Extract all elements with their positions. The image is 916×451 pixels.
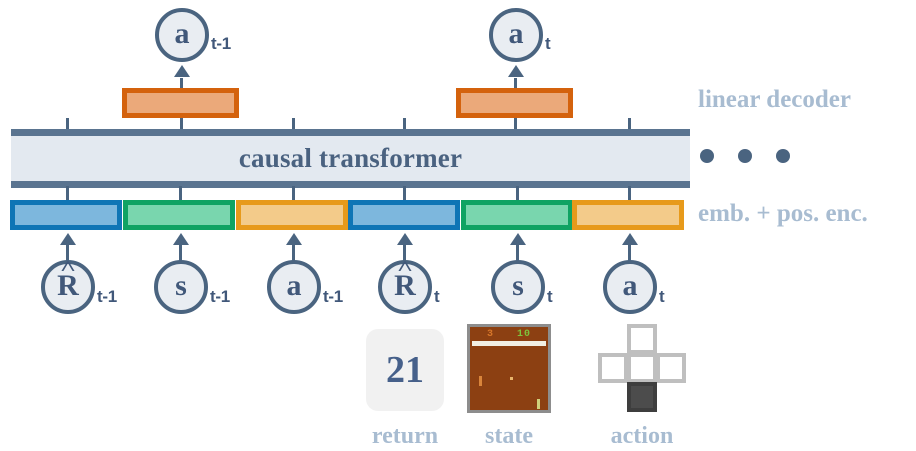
embedding-box-return-t-minus-1 bbox=[10, 200, 122, 230]
token-to-embedding-arrow-6 bbox=[622, 233, 638, 245]
input-token-subscript-5: t bbox=[547, 287, 552, 307]
pong-ball bbox=[510, 377, 513, 380]
return-caption: return bbox=[366, 423, 444, 450]
pong-paddle-right bbox=[537, 399, 540, 409]
token-glyph: s bbox=[175, 271, 187, 301]
decision-transformer-diagram: a t-1 a t causal transformer bbox=[0, 0, 916, 451]
embedding-box-return-t bbox=[348, 200, 460, 230]
pong-scoreboard: 3 10 bbox=[470, 329, 548, 340]
pong-divider-bar bbox=[472, 341, 546, 346]
transformer-bottom-tick-3 bbox=[292, 186, 295, 200]
token-glyph: s bbox=[512, 271, 524, 301]
pong-score-left: 3 bbox=[487, 329, 494, 340]
linear-decoder-box-2 bbox=[456, 88, 573, 118]
transformer-bottom-tick-6 bbox=[628, 186, 631, 200]
state-caption: state bbox=[467, 423, 551, 450]
input-token-subscript-2: t-1 bbox=[210, 287, 230, 307]
output-token-subscript-t: t bbox=[545, 34, 550, 54]
transformer-bottom-tick-2 bbox=[179, 186, 182, 200]
action-caption: action bbox=[598, 423, 686, 450]
token-to-embedding-stem-6 bbox=[628, 245, 631, 261]
token-to-embedding-stem-2 bbox=[179, 245, 182, 261]
embedding-box-action-t bbox=[572, 200, 684, 230]
action-thumbnail bbox=[598, 324, 686, 413]
token-to-embedding-arrow-3 bbox=[286, 233, 302, 245]
token-to-embedding-stem-3 bbox=[292, 245, 295, 261]
input-token-return-t: R bbox=[378, 260, 432, 314]
return-value: 21 bbox=[386, 348, 424, 392]
pong-paddle-left bbox=[479, 376, 482, 386]
token-to-embedding-arrow-1 bbox=[60, 233, 76, 245]
token-to-embedding-arrow-5 bbox=[510, 233, 526, 245]
output-token-action-t: a bbox=[489, 8, 543, 62]
linear-decoder-label: linear decoder bbox=[698, 86, 851, 114]
input-token-subscript-1: t-1 bbox=[97, 287, 117, 307]
token-glyph: R bbox=[57, 271, 79, 301]
input-token-subscript-4: t bbox=[434, 287, 439, 307]
dpad-down-icon-selected bbox=[627, 382, 657, 412]
token-to-embedding-stem-5 bbox=[516, 245, 519, 261]
token-to-embedding-arrow-2 bbox=[173, 233, 189, 245]
transformer-bottom-tick-1 bbox=[66, 186, 69, 200]
pong-screen: 3 10 bbox=[470, 327, 548, 410]
ellipsis-dot-1 bbox=[700, 149, 714, 163]
token-glyph: a bbox=[623, 271, 638, 301]
input-token-subscript-3: t-1 bbox=[323, 287, 343, 307]
dpad-left-icon bbox=[598, 353, 628, 383]
input-token-subscript-6: t bbox=[659, 287, 664, 307]
causal-transformer-block: causal transformer bbox=[11, 129, 690, 188]
token-glyph: a bbox=[509, 19, 524, 49]
decoder-output-arrow-2 bbox=[508, 65, 524, 77]
input-token-action-t-minus-1: a bbox=[267, 260, 321, 314]
embedding-box-state-t bbox=[461, 200, 573, 230]
dpad-right-icon bbox=[656, 353, 686, 383]
transformer-bottom-tick-4 bbox=[403, 186, 406, 200]
dpad-up-icon bbox=[627, 324, 657, 354]
input-token-return-t-minus-1: R bbox=[41, 260, 95, 314]
sequence-ellipsis bbox=[700, 149, 790, 167]
output-token-subscript-t-minus-1: t-1 bbox=[211, 34, 231, 54]
embedding-box-action-t-minus-1 bbox=[236, 200, 348, 230]
embedding-box-state-t-minus-1 bbox=[123, 200, 235, 230]
token-glyph: a bbox=[175, 19, 190, 49]
token-to-embedding-arrow-4 bbox=[397, 233, 413, 245]
transformer-bottom-tick-5 bbox=[516, 186, 519, 200]
input-token-state-t-minus-1: s bbox=[154, 260, 208, 314]
input-token-action-t: a bbox=[603, 260, 657, 314]
embedding-pos-enc-label: emb. + pos. enc. bbox=[698, 200, 868, 228]
token-glyph: a bbox=[287, 271, 302, 301]
pong-score-right: 10 bbox=[517, 329, 531, 340]
ellipsis-dot-3 bbox=[776, 149, 790, 163]
linear-decoder-box-1 bbox=[122, 88, 239, 118]
dpad-center-icon bbox=[627, 353, 657, 383]
output-token-action-t-minus-1: a bbox=[155, 8, 209, 62]
input-token-state-t: s bbox=[491, 260, 545, 314]
token-glyph: R bbox=[394, 271, 416, 301]
causal-transformer-label: causal transformer bbox=[239, 143, 462, 174]
return-thumbnail: 21 bbox=[366, 329, 444, 411]
state-thumbnail: 3 10 bbox=[467, 324, 551, 413]
decoder-output-arrow-1 bbox=[174, 65, 190, 77]
ellipsis-dot-2 bbox=[738, 149, 752, 163]
